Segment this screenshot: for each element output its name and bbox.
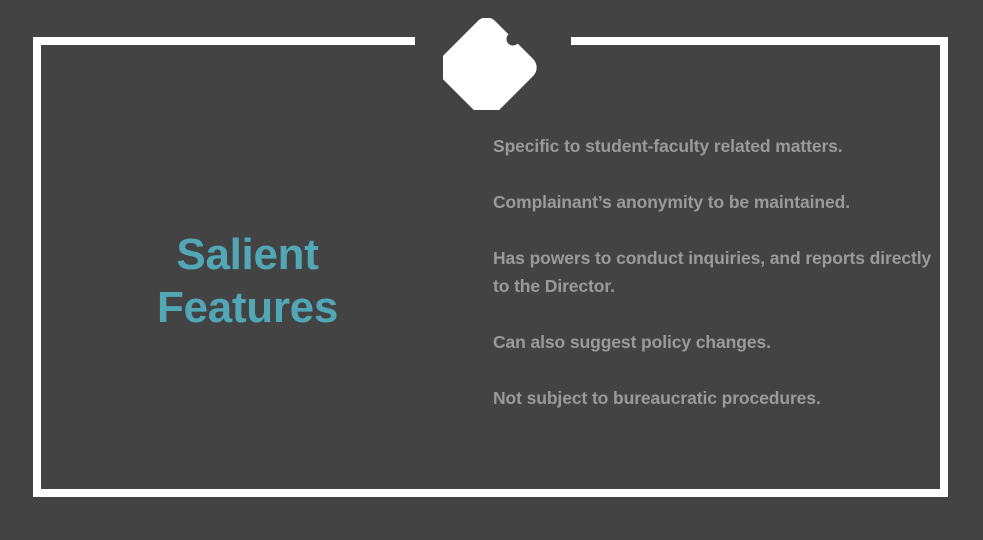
frame-border-bottom [33, 489, 948, 497]
page-title-line-1: Salient [60, 228, 435, 281]
feature-item: Has powers to conduct inquiries, and rep… [493, 244, 933, 300]
frame-border-right [940, 37, 948, 497]
feature-item: Not subject to bureaucratic procedures. [493, 384, 933, 412]
page-title: Salient Features [60, 228, 435, 334]
page-title-line-2: Features [60, 281, 435, 334]
feature-item: Can also suggest policy changes. [493, 328, 933, 356]
frame-border-left [33, 37, 41, 497]
frame-border-top-right [571, 37, 948, 45]
tag-icon [443, 18, 537, 110]
feature-item: Specific to student-faculty related matt… [493, 132, 933, 160]
features-list: Specific to student-faculty related matt… [493, 132, 933, 412]
frame-border-top-left [33, 37, 415, 45]
slide-canvas: Salient Features Specific to student-fac… [0, 0, 983, 540]
feature-item: Complainant’s anonymity to be maintained… [493, 188, 933, 216]
